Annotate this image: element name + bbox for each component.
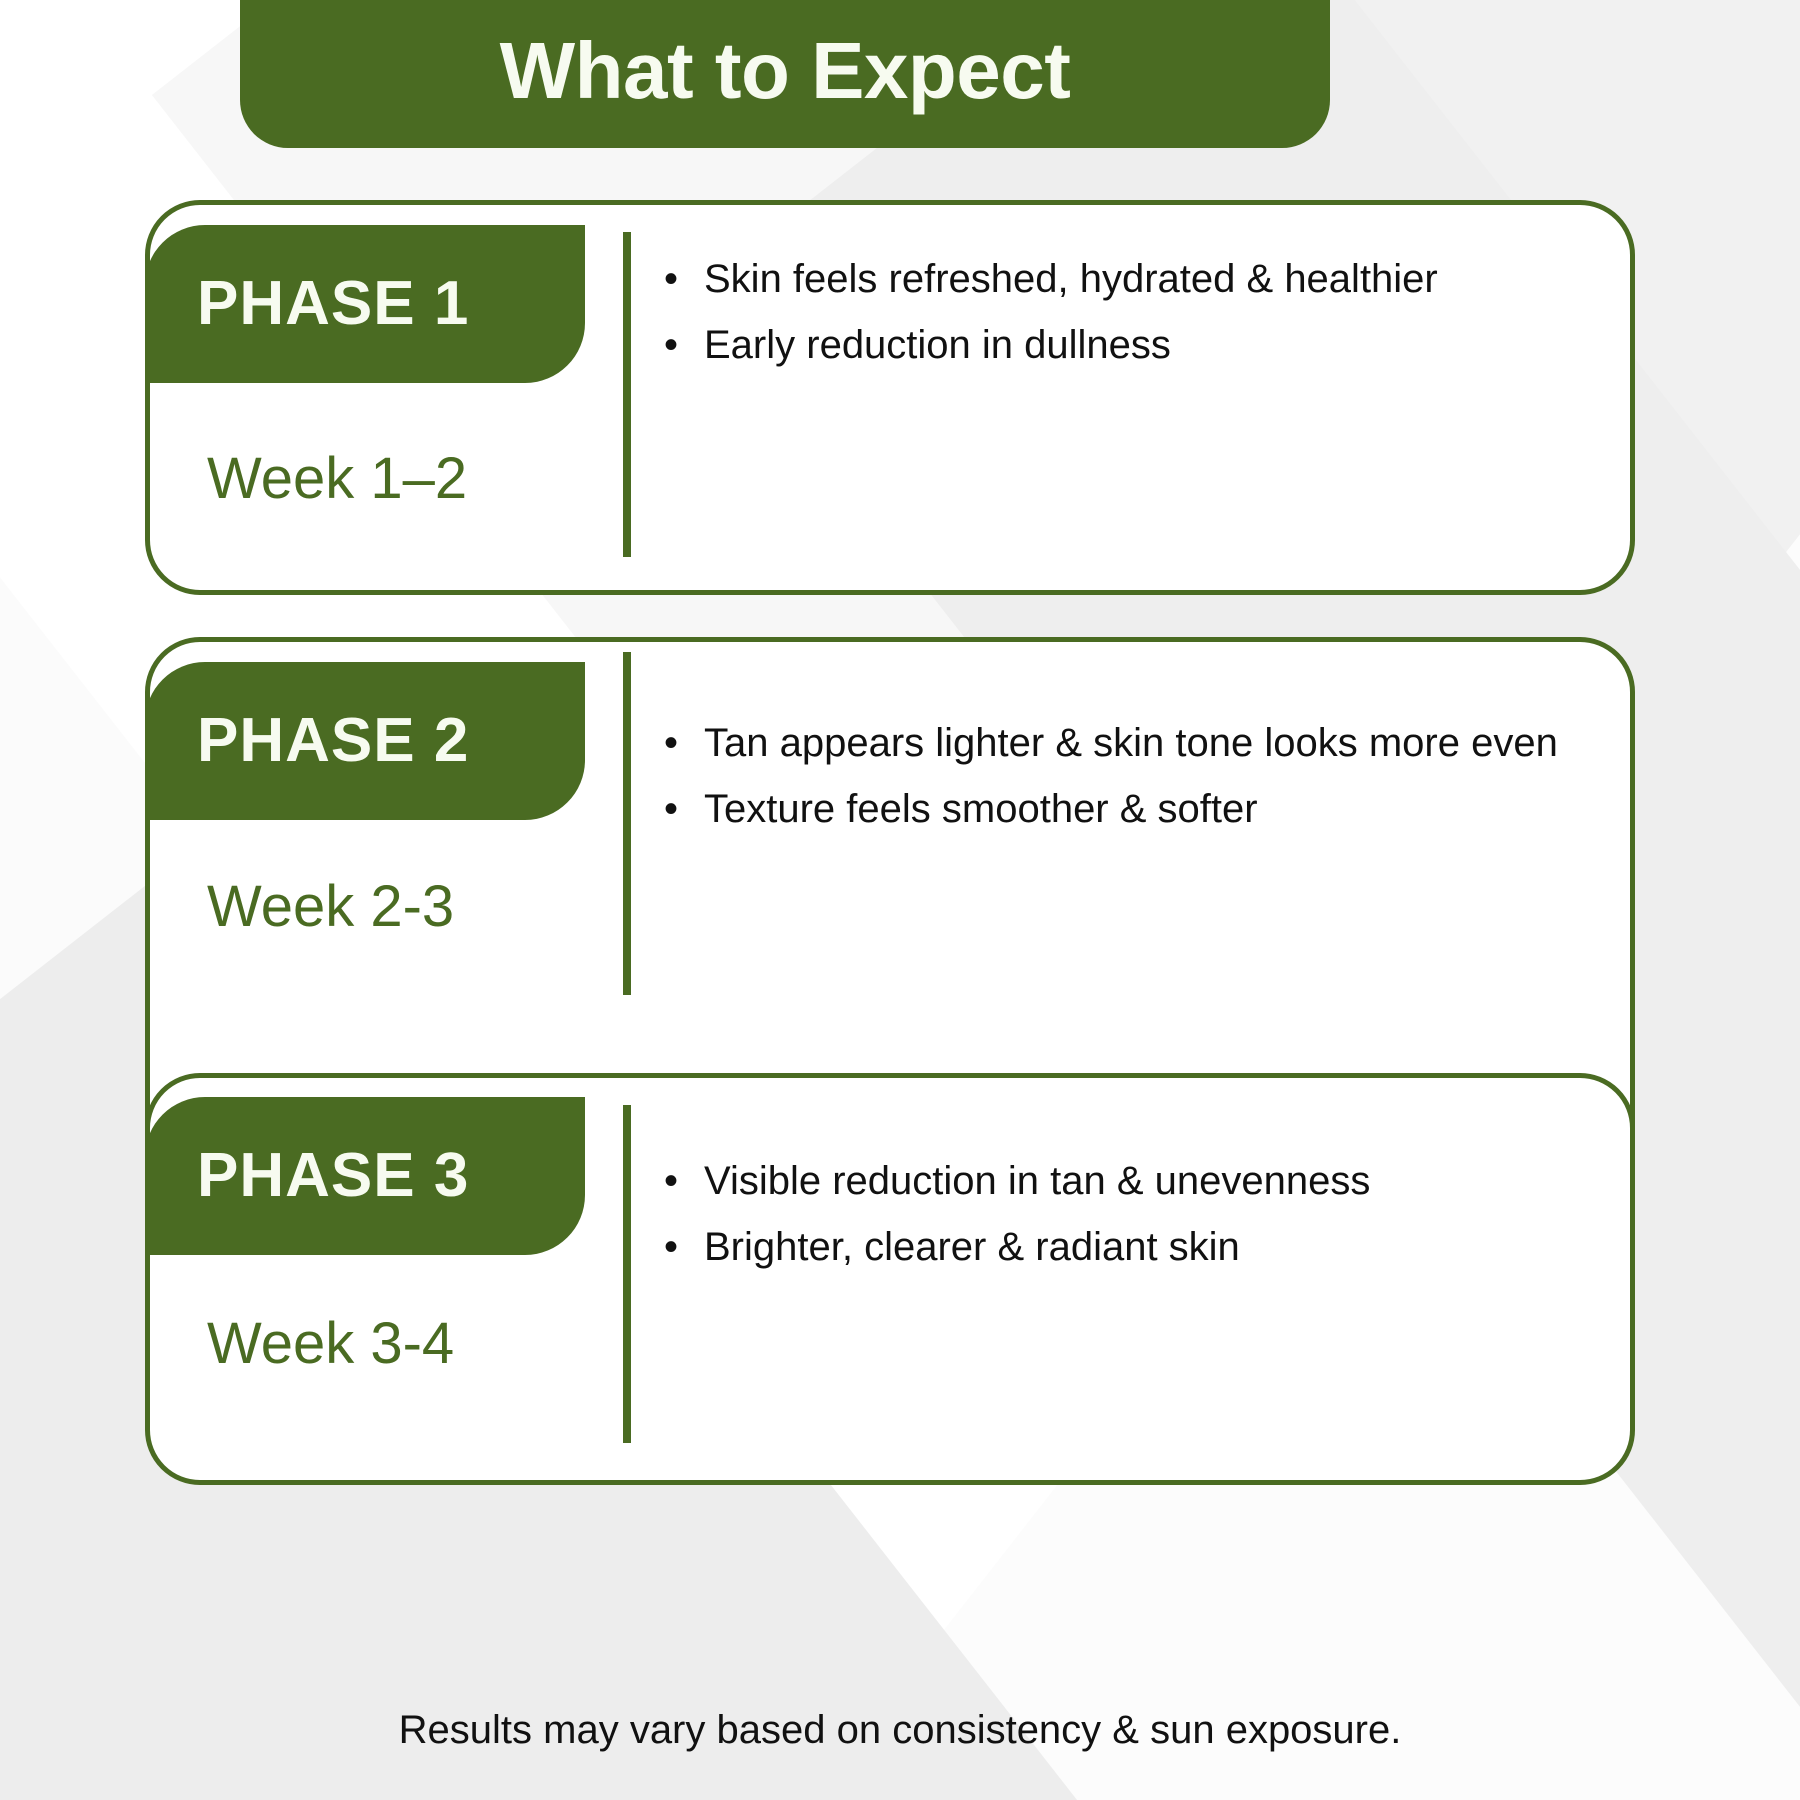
phase-bullet-list-3: Visible reduction in tan & unevenness Br…	[658, 1150, 1588, 1282]
list-item: Brighter, clearer & radiant skin	[658, 1216, 1588, 1278]
footer-disclaimer: Results may vary based on consistency & …	[0, 1706, 1800, 1754]
phase-tab-3: PHASE 3	[145, 1097, 585, 1255]
phase-tab-label: PHASE 3	[145, 1145, 469, 1207]
page-title: What to Expect	[500, 17, 1071, 111]
list-item: Visible reduction in tan & unevenness	[658, 1150, 1588, 1212]
phase-bullet-list-1: Skin feels refreshed, hydrated & healthi…	[658, 248, 1588, 380]
list-item: Tan appears lighter & skin tone looks mo…	[658, 712, 1588, 774]
phase-week-label-2: Week 2-3	[207, 878, 454, 936]
phase-divider-2	[623, 652, 631, 995]
phase-week-label-3: Week 3-4	[207, 1315, 454, 1373]
list-item: Skin feels refreshed, hydrated & healthi…	[658, 248, 1588, 310]
phase-tab-label: PHASE 1	[145, 273, 469, 335]
phase-tab-2: PHASE 2	[145, 662, 585, 820]
phase-tab-label: PHASE 2	[145, 710, 469, 772]
phase-tab-1: PHASE 1	[145, 225, 585, 383]
phase-divider-1	[623, 232, 631, 557]
phase-divider-3	[623, 1105, 631, 1443]
header-banner: What to Expect	[240, 0, 1330, 148]
list-item: Texture feels smoother & softer	[658, 778, 1588, 840]
list-item: Early reduction in dullness	[658, 314, 1588, 376]
phase-bullet-list-2: Tan appears lighter & skin tone looks mo…	[658, 712, 1588, 844]
phase-week-label-1: Week 1–2	[207, 450, 467, 508]
infographic-canvas: What to Expect PHASE 1 Week 1–2 Skin fee…	[0, 0, 1800, 1800]
